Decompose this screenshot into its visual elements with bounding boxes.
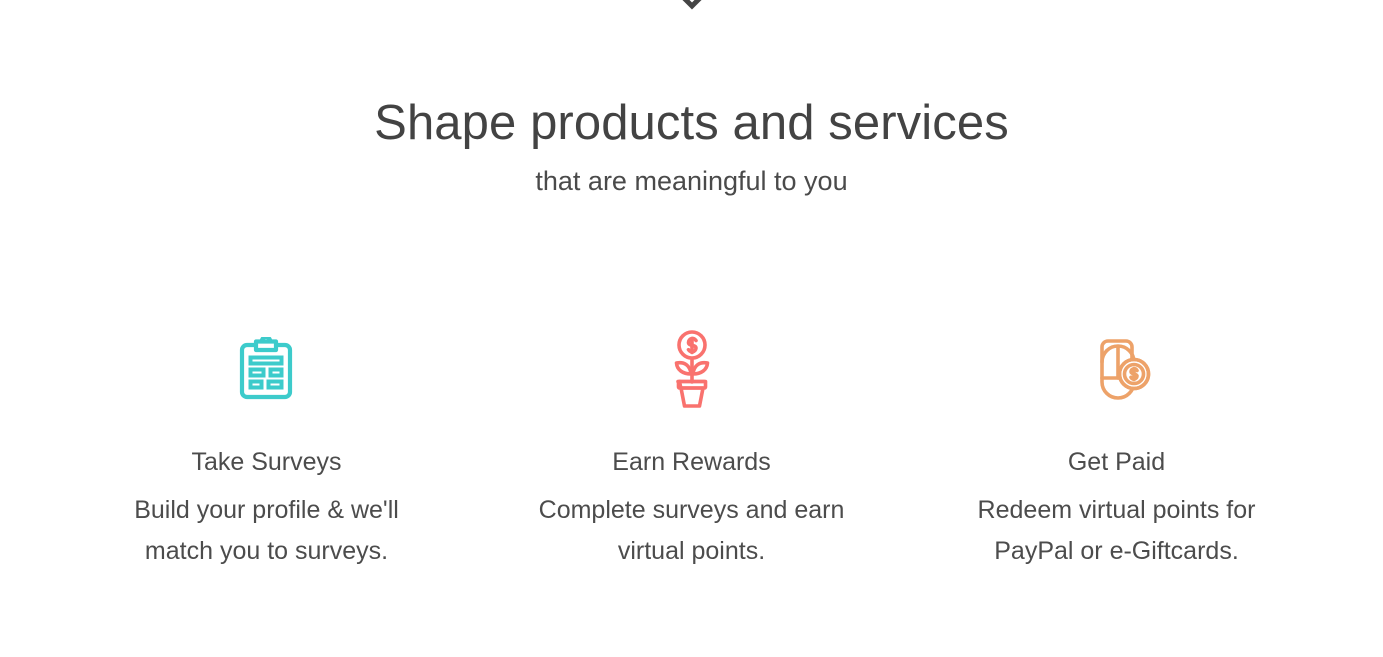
feature-item-take-surveys: Take Surveys Build your profile & we'll …: [54, 330, 479, 572]
money-plant-icon: [666, 330, 718, 410]
scroll-down-indicator[interactable]: [0, 0, 1383, 12]
feature-item-earn-rewards: Earn Rewards Complete surveys and earn v…: [479, 330, 904, 572]
page-title: Shape products and services: [0, 92, 1383, 154]
feature-description: Complete surveys and earn virtual points…: [527, 478, 857, 572]
hero-heading-block: Shape products and services that are mea…: [0, 92, 1383, 198]
feature-title: Take Surveys: [191, 410, 341, 478]
feature-item-get-paid: Get Paid Redeem virtual points for PayPa…: [904, 330, 1329, 572]
feature-title: Earn Rewards: [612, 410, 770, 478]
feature-title: Get Paid: [1068, 410, 1165, 478]
mouse-with-coin-icon: [1082, 330, 1152, 410]
feature-description: Build your profile & we'll match you to …: [102, 478, 432, 572]
chevron-down-icon: [679, 0, 705, 12]
landing-page-section: Shape products and services that are mea…: [0, 0, 1383, 657]
feature-list: Take Surveys Build your profile & we'll …: [0, 330, 1383, 572]
page-subtitle: that are meaningful to you: [0, 164, 1383, 198]
clipboard-survey-icon: [239, 330, 295, 410]
feature-description: Redeem virtual points for PayPal or e-Gi…: [952, 478, 1282, 572]
